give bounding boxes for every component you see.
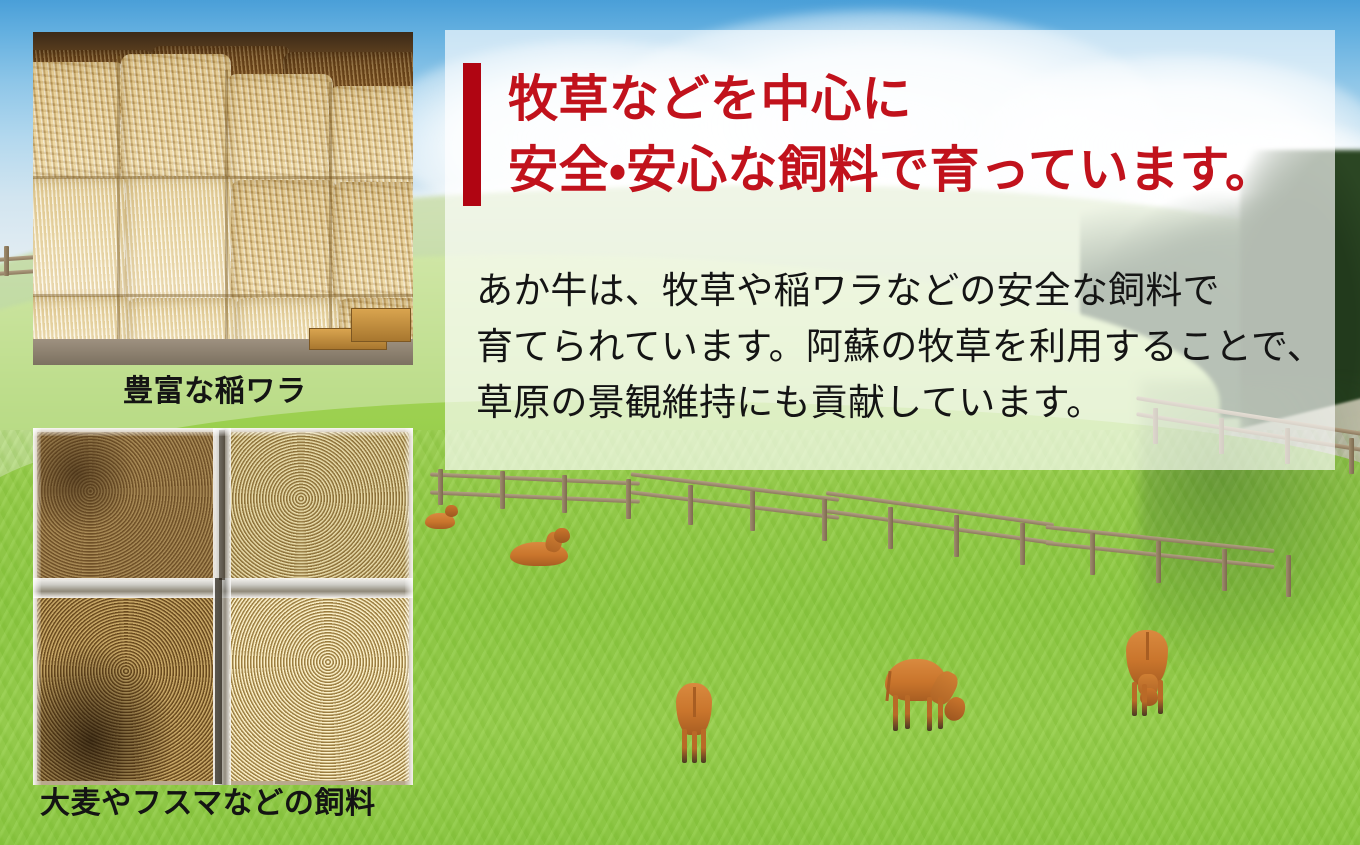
bag-seam-shadow — [219, 430, 225, 580]
feed-sample-bran — [37, 432, 215, 580]
photo-grain-feed — [33, 428, 413, 785]
body-line-2: 育てられています。阿蘇の牧草を利用することで、 — [476, 319, 1316, 375]
straw-bale — [33, 178, 129, 302]
poster-root: 豊富な稲ワラ 大麦やフスマなどの飼料 牧草などを中心に 安全・安心な飼料で育って… — [0, 0, 1360, 845]
body-line-3: 草原の景観維持にも貢献しています。 — [476, 375, 1316, 431]
straw-bale — [125, 176, 235, 304]
cow-grazing — [670, 683, 740, 763]
bag-seam-shadow — [215, 578, 222, 784]
wooden-crate — [351, 308, 411, 342]
straw-bale — [227, 74, 333, 184]
caption-grain-feed: 大麦やフスマなどの飼料 — [40, 789, 376, 819]
straw-bale — [333, 182, 413, 302]
feed-sample-dark-grain — [37, 598, 215, 781]
body-text: あか牛は、牧草や稲ワラなどの安全な飼料で 育てられています。阿蘇の牧草を利用する… — [476, 263, 1316, 432]
feed-sample-corn — [229, 598, 409, 781]
headline-line-2: 安全・安心な飼料で育っています。 — [508, 135, 1308, 206]
cow-grazing — [1118, 630, 1198, 720]
straw-bale — [231, 180, 337, 304]
body-line-1: あか牛は、牧草や稲ワラなどの安全な飼料で — [476, 263, 1316, 319]
bag-edge — [33, 428, 413, 436]
bag-edge — [33, 428, 41, 785]
feed-sample-barley — [229, 432, 409, 580]
headline-line-1: 牧草などを中心に — [508, 64, 1308, 135]
photo-straw-bales — [33, 32, 413, 365]
headline: 牧草などを中心に 安全・安心な飼料で育っています。 — [508, 64, 1308, 206]
caption-straw-bales: 豊富な稲ワラ — [123, 377, 307, 407]
cow-grazing — [885, 645, 975, 735]
cow-resting — [510, 528, 580, 568]
straw-bale — [33, 62, 125, 180]
accent-bar — [463, 63, 481, 206]
straw-bale — [121, 54, 231, 180]
bag-edge — [405, 428, 413, 785]
straw-bale — [329, 86, 413, 186]
cow-resting — [425, 505, 461, 531]
